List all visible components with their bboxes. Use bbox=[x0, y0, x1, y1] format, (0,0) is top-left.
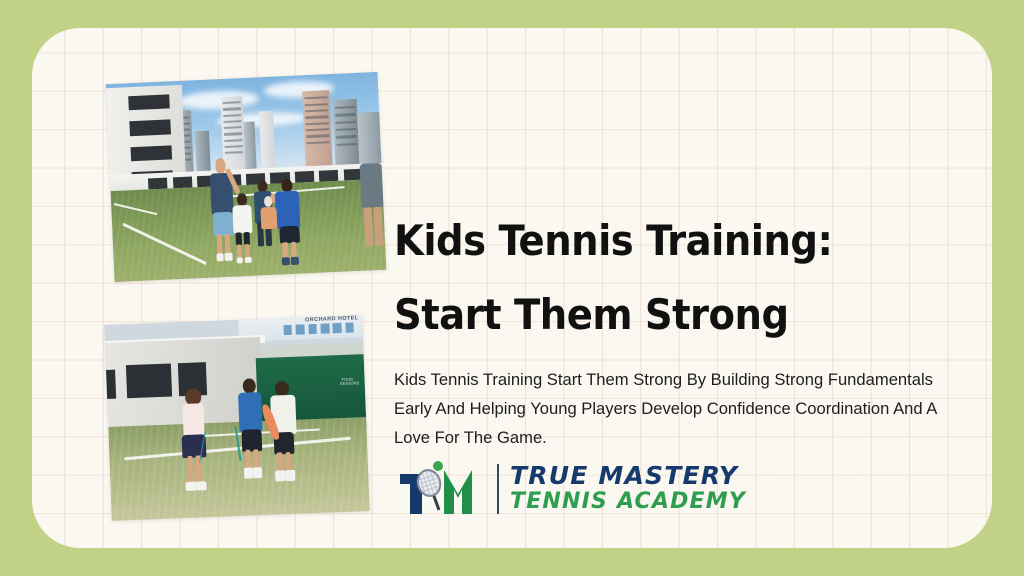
torso bbox=[360, 163, 384, 208]
logo-line-tennis-academy: TENNIS ACADEMY bbox=[510, 489, 746, 514]
four-seasons-logo: FOUR SEASONS bbox=[340, 377, 356, 389]
tennis-ball-icon bbox=[433, 461, 443, 471]
content-card: ORCHARD HOTEL FOUR SEASONS bbox=[32, 28, 992, 548]
head bbox=[263, 196, 272, 207]
head bbox=[184, 388, 201, 406]
photo-kids-on-court: ORCHARD HOTEL FOUR SEASONS bbox=[104, 315, 369, 521]
person-boy-white bbox=[267, 380, 304, 483]
person-child-orange bbox=[258, 195, 282, 251]
poster-canvas: ORCHARD HOTEL FOUR SEASONS bbox=[0, 0, 1024, 576]
page-title: Kids Tennis Training: Start Them Strong bbox=[394, 204, 954, 352]
logo-wordmark: TRUE MASTERY TENNIS ACADEMY bbox=[510, 463, 746, 514]
torso bbox=[260, 207, 277, 230]
photo-rooftop-coaching bbox=[106, 72, 387, 282]
torso bbox=[182, 404, 204, 439]
person-child-white bbox=[230, 192, 258, 264]
torso bbox=[239, 392, 263, 432]
brand-logo[interactable]: TRUE MASTERY TENNIS ACADEMY bbox=[398, 460, 714, 518]
logo-divider bbox=[497, 464, 499, 514]
headline-line-2: Start Them Strong bbox=[394, 278, 965, 352]
headline-line-1: Kids Tennis Training: bbox=[394, 204, 965, 278]
person-boy-blue bbox=[235, 378, 270, 481]
tm-racket-monogram-icon bbox=[398, 460, 490, 518]
body-paragraph: Kids Tennis Training Start Them Strong B… bbox=[394, 365, 956, 452]
photo-top-content bbox=[106, 72, 387, 282]
torso bbox=[232, 205, 252, 234]
shorts bbox=[242, 429, 262, 452]
photo-bottom-content: ORCHARD HOTEL FOUR SEASONS bbox=[104, 315, 369, 521]
shorts bbox=[279, 226, 300, 244]
logo-line-true-mastery: TRUE MASTERY bbox=[510, 463, 746, 489]
person-girl bbox=[176, 388, 216, 495]
person-bystander bbox=[360, 163, 387, 263]
head bbox=[215, 158, 226, 174]
